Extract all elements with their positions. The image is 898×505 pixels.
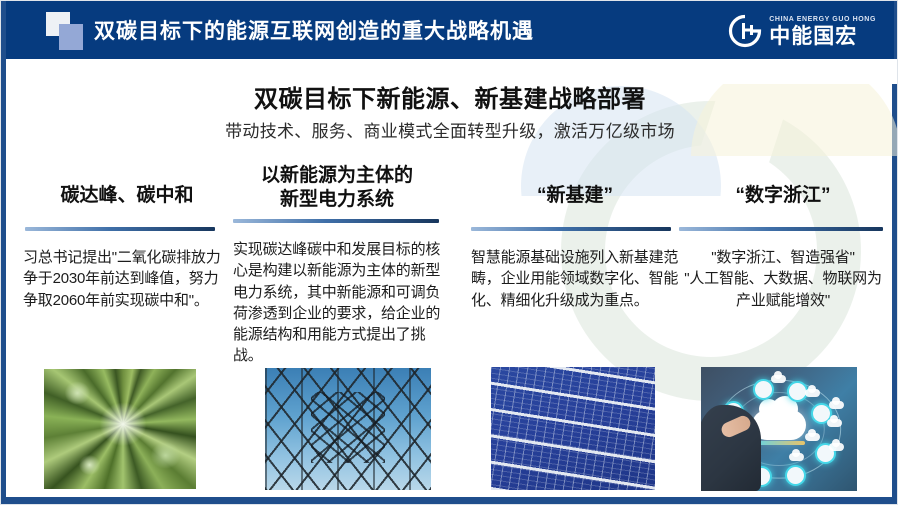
header-square-blue-icon: [59, 24, 83, 50]
cloud-node-icon: [785, 465, 806, 486]
pointing-finger: [719, 414, 753, 440]
forest-canopy-image: [44, 369, 196, 489]
content-column-3: “新基建” 智慧能源基础设施列入新基建范畴，企业用能领域数字化、智能化、精细化升…: [471, 161, 679, 311]
column-3-divider: [471, 227, 671, 231]
logo-chinese-name: 中能国宏: [769, 26, 876, 47]
column-4-body-text: "数字浙江、智造强省" "人工智能、大数据、物联网为产业赋能增效": [679, 247, 887, 311]
column-2-body-text: 实现碳达峰碳中和发展目标的核心是构建以新能源为主体的新型电力系统，其中新能源和可…: [233, 239, 441, 367]
column-2-divider: [233, 219, 439, 223]
content-column-2: 以新能源为主体的 新型电力系统 实现碳达峰碳中和发展目标的核心是构建以新能源为主…: [233, 161, 441, 367]
column-1-divider: [25, 227, 215, 231]
cloud-puff-icon: [827, 419, 842, 427]
solar-panels-image: [491, 367, 655, 490]
frame-left-border: [1, 1, 6, 505]
logo-circle-g-icon: [728, 14, 762, 48]
column-4-divider: [679, 227, 883, 231]
logo-text: CHINA ENERGY GUO HONG 中能国宏: [769, 16, 876, 47]
cloud-puff-icon: [805, 433, 820, 441]
cloud-puff-icon: [829, 443, 844, 451]
column-1-heading: 碳达峰、碳中和: [23, 161, 231, 223]
header-bar: 双碳目标下的能源互联网创造的重大战略机遇 CHINA ENERGY GUO HO…: [6, 1, 894, 59]
company-logo: CHINA ENERGY GUO HONG 中能国宏: [728, 11, 876, 51]
solar-panels-photo: [491, 367, 655, 490]
column-3-body-text: 智慧能源基础设施列入新基建范畴，企业用能领域数字化、智能化、精细化升级成为重点。: [471, 247, 679, 311]
column-4-heading: “数字浙江”: [679, 161, 887, 223]
page-subtitle: 带动技术、服务、商业模式全面转型升级，激活万亿级市场: [1, 117, 898, 142]
forest-canopy-photo: [44, 369, 196, 489]
cloud-computing-image: [701, 367, 857, 491]
column-2-heading: 以新能源为主体的 新型电力系统: [233, 161, 441, 215]
cloud-node-icon: [753, 379, 774, 400]
cloud-puff-icon: [771, 375, 786, 383]
content-column-4: “数字浙江” "数字浙江、智造强省" "人工智能、大数据、物联网为产业赋能增效": [679, 161, 887, 311]
frame-bottom-border: [1, 497, 898, 504]
cloud-puff-icon: [805, 389, 820, 397]
page-title: 双碳目标下新能源、新基建战略部署: [1, 79, 898, 114]
column-1-body-text: 习总书记提出"二氧化碳排放力争于2030年前达到峰值，努力争取2060年前实现碳…: [23, 247, 231, 311]
content-column-1: 碳达峰、碳中和 习总书记提出"二氧化碳排放力争于2030年前达到峰值，努力争取2…: [23, 161, 231, 311]
column-3-heading: “新基建”: [471, 161, 679, 223]
header-title: 双碳目标下的能源互联网创造的重大战略机遇: [94, 15, 534, 45]
transmission-tower-image: [265, 368, 431, 490]
logo-english-name: CHINA ENERGY GUO HONG: [769, 16, 876, 23]
cloud-puff-icon: [789, 453, 804, 461]
cloud-computing-photo: [701, 367, 857, 491]
slide-canvas: 双碳目标下的能源互联网创造的重大战略机遇 CHINA ENERGY GUO HO…: [0, 0, 898, 505]
hand-silhouette: [701, 405, 761, 491]
cloud-puff-icon: [829, 401, 844, 409]
transmission-tower-photo: [265, 368, 431, 490]
